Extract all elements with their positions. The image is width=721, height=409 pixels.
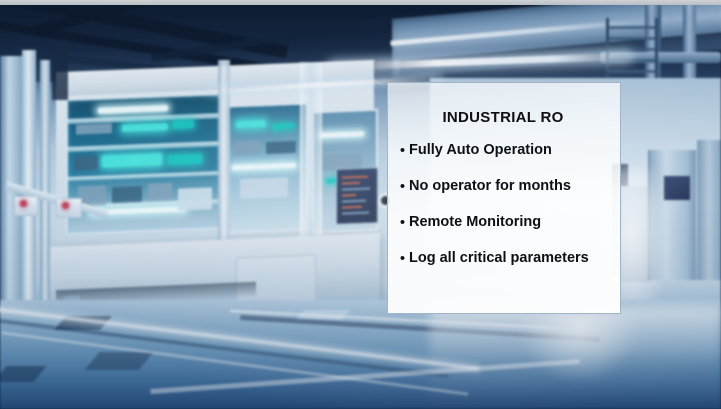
left-pipe-column [40,60,50,360]
machine-glass-window [224,102,308,233]
machine-base-shadow [56,282,256,306]
machine-foot [64,295,80,320]
left-pipe-column [0,56,22,356]
bullet-icon: • [396,178,409,195]
floor-reflection-glare [520,312,640,382]
left-pipe-column [22,50,36,362]
left-valve-box [14,196,38,216]
bullet-icon: • [396,250,409,267]
background-equipment [697,140,721,280]
cleanroom-floor [0,300,721,409]
left-valve-box [56,198,82,218]
floor-highlight-line [150,359,579,394]
floor-control-panel [184,306,244,346]
slide-canvas: INDUSTRIAL RO • Fully Auto Operation • N… [0,0,721,409]
machine-control-monitor [336,167,378,225]
red-indicator-light [62,202,69,209]
machine-base [50,233,380,315]
machine-frame-post [218,60,230,310]
machine-glass-window [66,93,222,235]
ceiling-duct [392,0,721,79]
floor-dark-line [0,318,449,378]
machine-access-door [236,254,316,307]
left-diagonal-conduit [5,182,109,219]
list-item-label: Log all critical parameters [409,250,589,267]
machine-glass-divider [300,62,322,322]
machine-foot [120,300,134,323]
info-panel: INDUSTRIAL RO • Fully Auto Operation • N… [387,82,621,314]
list-item: • Fully Auto Operation [396,142,610,159]
list-item: • Remote Monitoring [396,214,610,231]
bullet-icon: • [396,214,409,231]
list-item: • No operator for months [396,178,610,195]
vertical-pipe [645,4,661,84]
floor-panel-seam [84,352,153,370]
floor-panel-seam [296,310,350,320]
machine-pedestal [96,310,212,340]
list-item-label: No operator for months [409,178,571,195]
machine-glass-window [312,109,378,234]
list-item-label: Remote Monitoring [409,214,541,231]
ceiling-duct-shadow [400,32,721,83]
floor-highlight-line [2,331,468,395]
ceiling-light-tube [330,53,630,70]
list-item-label: Fully Auto Operation [409,142,552,159]
vertical-pipe [683,4,696,96]
bullet-icon: • [396,142,409,159]
floor-highlight-line [0,306,478,371]
panel-title: INDUSTRIAL RO [396,109,610,126]
horizontal-pipe [600,52,721,63]
floor-panel-seam [0,366,47,382]
ceiling-duct-highlight [390,19,639,46]
floor-panel-seam [54,316,112,330]
machine-enclosure [56,84,374,256]
floor-control-knobs [190,310,234,321]
red-indicator-light [20,200,27,207]
left-shadow-block [52,40,68,100]
background-screen [664,176,690,200]
background-equipment [648,150,696,280]
floor-reflection [430,306,721,409]
cable-tray [606,18,658,80]
background-equipment [620,186,650,282]
floor-dark-line [240,315,600,342]
list-item: • Log all critical parameters [396,250,610,267]
